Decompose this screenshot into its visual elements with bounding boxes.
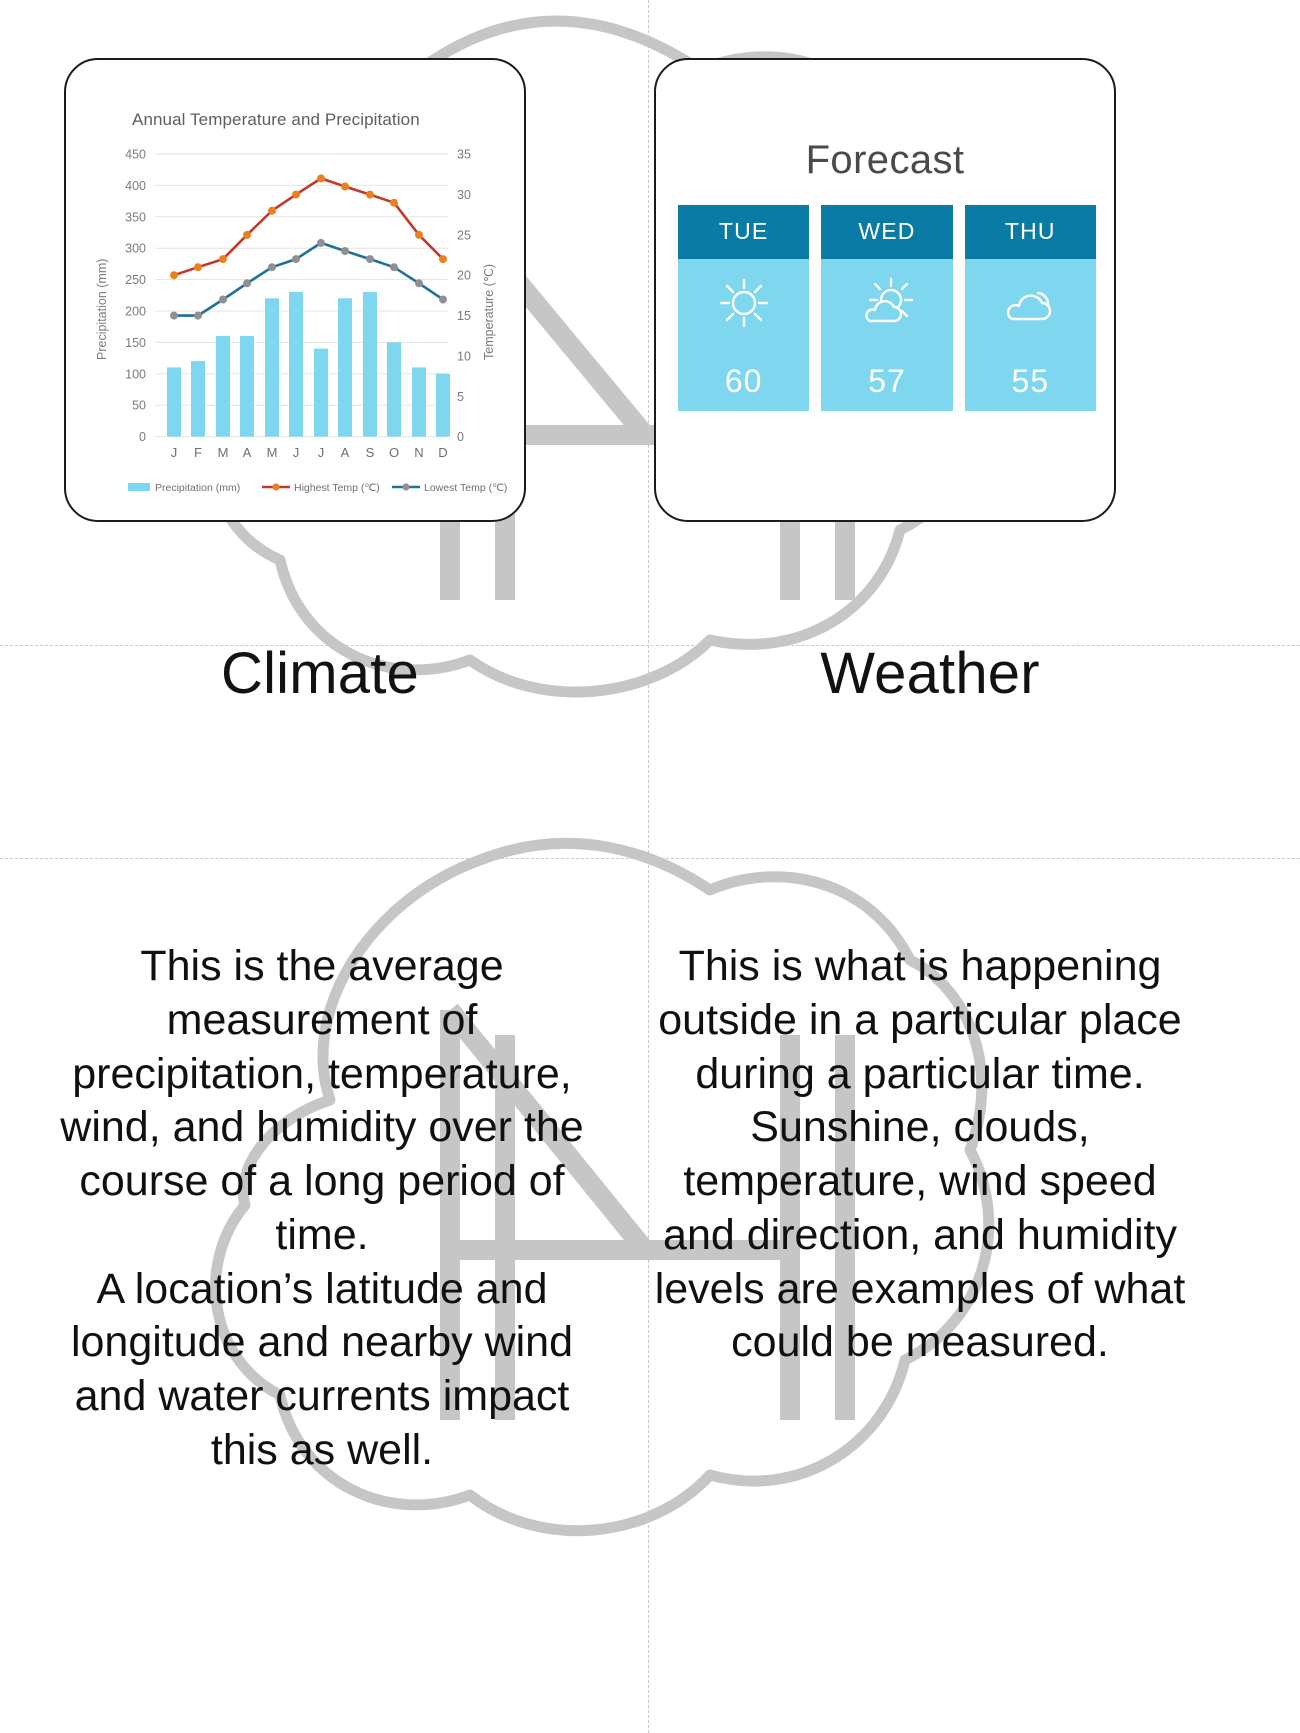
climate-chart-svg: 450 400 350 300 250 200 150 100 50 0 35 … <box>66 60 528 524</box>
forecast-day-body-wed: 57 <box>821 259 952 411</box>
chart-y-axis-left-title: Precipitation (mm) <box>95 259 109 360</box>
svg-text:J: J <box>171 445 178 460</box>
heading-weather: Weather <box>650 640 1210 707</box>
chart-y-axis-right-title: Temperature (℃) <box>482 264 496 360</box>
forecast-day-card-thu[interactable]: THU 55 <box>965 205 1096 411</box>
svg-text:O: O <box>389 445 399 460</box>
svg-text:400: 400 <box>125 179 146 193</box>
weather-forecast-card: Forecast TUE <box>654 58 1116 522</box>
legend-label-lowest-temp: Lowest Temp (℃) <box>424 482 507 494</box>
svg-text:300: 300 <box>125 242 146 256</box>
svg-text:20: 20 <box>457 269 471 283</box>
svg-text:M: M <box>267 445 278 460</box>
svg-text:15: 15 <box>457 309 471 323</box>
chart-x-axis-ticks: JF MA MJ JA SO ND <box>171 445 448 460</box>
svg-text:M: M <box>218 445 229 460</box>
svg-text:D: D <box>438 445 447 460</box>
legend-label-highest-temp: Highest Temp (℃) <box>294 482 380 494</box>
guide-vertical-center <box>648 0 649 1733</box>
forecast-day-card-wed[interactable]: WED 57 <box>821 205 952 411</box>
forecast-day-body-tue: 60 <box>678 259 809 411</box>
chart-y-axis-right-ticks: 35 30 25 20 15 10 5 0 <box>457 148 471 445</box>
cloud-icon <box>998 275 1062 331</box>
precipitation-bars <box>167 292 450 437</box>
chart-wrapper: Annual Temperature and Precipitation <box>66 60 524 520</box>
definition-text-weather: This is what is happening outside in a p… <box>650 940 1190 1370</box>
svg-text:A: A <box>341 445 350 460</box>
forecast-day-label-tue: TUE <box>678 205 809 259</box>
svg-text:0: 0 <box>139 430 146 444</box>
svg-text:30: 30 <box>457 188 471 202</box>
svg-text:A: A <box>243 445 252 460</box>
chart-y-axis-left-ticks: 450 400 350 300 250 200 150 100 50 0 <box>125 148 146 445</box>
forecast-temp-wed: 57 <box>868 365 906 397</box>
svg-text:100: 100 <box>125 367 146 381</box>
guide-horizontal-bottom <box>0 858 1300 859</box>
forecast-days-row: TUE 60 <box>678 205 1096 411</box>
chart-legend: Precipitation (mm) Highest Temp (℃) Lowe… <box>128 482 507 494</box>
heading-climate: Climate <box>40 640 600 707</box>
svg-text:0: 0 <box>457 430 464 444</box>
svg-text:25: 25 <box>457 228 471 242</box>
forecast-day-card-tue[interactable]: TUE 60 <box>678 205 809 411</box>
svg-text:J: J <box>318 445 325 460</box>
forecast-day-label-wed: WED <box>821 205 952 259</box>
svg-text:450: 450 <box>125 148 146 162</box>
poster-root: Annual Temperature and Precipitation <box>0 0 1300 1733</box>
svg-text:250: 250 <box>125 273 146 287</box>
svg-text:150: 150 <box>125 336 146 350</box>
svg-text:10: 10 <box>457 350 471 364</box>
definition-text-climate: This is the average measurement of preci… <box>52 940 592 1478</box>
sun-icon <box>712 275 776 331</box>
climate-chart-card: Annual Temperature and Precipitation <box>64 58 526 522</box>
legend-swatch-precipitation <box>128 483 150 491</box>
svg-text:S: S <box>366 445 375 460</box>
svg-text:J: J <box>293 445 300 460</box>
forecast-temp-thu: 55 <box>1012 365 1050 397</box>
svg-text:350: 350 <box>125 210 146 224</box>
forecast-temp-tue: 60 <box>725 365 763 397</box>
svg-text:35: 35 <box>457 148 471 162</box>
forecast-day-body-thu: 55 <box>965 259 1096 411</box>
legend-label-precipitation: Precipitation (mm) <box>155 482 240 494</box>
highest-temp-line <box>174 178 443 275</box>
sun-cloud-icon <box>855 275 919 331</box>
svg-text:200: 200 <box>125 305 146 319</box>
forecast-day-label-thu: THU <box>965 205 1096 259</box>
svg-text:N: N <box>414 445 423 460</box>
svg-text:5: 5 <box>457 390 464 404</box>
forecast-title: Forecast <box>656 138 1114 183</box>
svg-text:50: 50 <box>132 399 146 413</box>
svg-text:F: F <box>194 445 202 460</box>
